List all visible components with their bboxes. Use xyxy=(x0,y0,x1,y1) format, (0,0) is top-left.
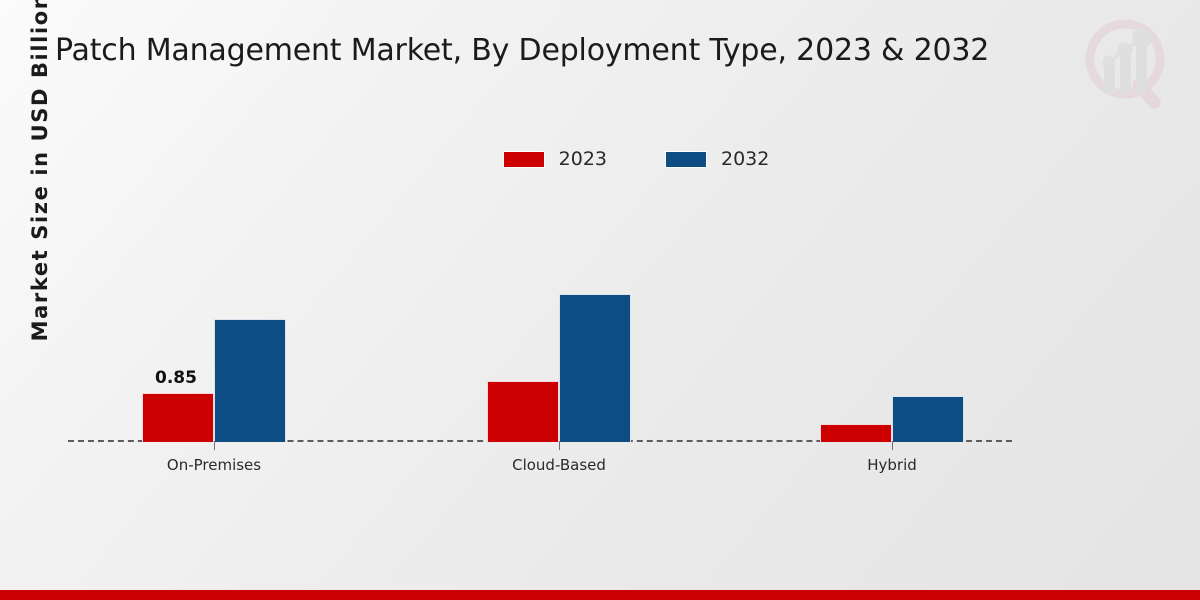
legend-swatch-2032 xyxy=(665,151,707,168)
watermark-logo xyxy=(1082,14,1178,118)
legend-item-2023[interactable]: 2023 xyxy=(503,148,607,170)
x-axis-label-cloud-based: Cloud-Based xyxy=(512,456,606,474)
legend-item-2032[interactable]: 2032 xyxy=(665,148,769,170)
legend-label-2023: 2023 xyxy=(559,148,607,170)
bar-data-label-on-premises-2023: 0.85 xyxy=(155,368,197,388)
chart-canvas: Patch Management Market, By Deployment T… xyxy=(0,0,1200,600)
bar-group-hybrid xyxy=(820,190,964,442)
legend-swatch-2023 xyxy=(503,151,545,168)
y-axis-title: Market Size in USD Billion xyxy=(28,0,52,437)
plot-area: 0.85 On-Premises Cloud-Based Hybrid xyxy=(68,190,1012,452)
x-tick-on-premises xyxy=(214,441,215,450)
x-tick-cloud-based xyxy=(559,441,560,450)
x-axis-label-on-premises: On-Premises xyxy=(167,456,261,474)
x-axis-label-hybrid: Hybrid xyxy=(867,456,917,474)
chart-legend: 2023 2032 xyxy=(0,148,1200,170)
bar-2032-on-premises[interactable] xyxy=(214,319,286,442)
bar-2032-cloud-based[interactable] xyxy=(559,294,631,442)
legend-label-2032: 2032 xyxy=(721,148,769,170)
bar-2023-on-premises[interactable]: 0.85 xyxy=(142,393,214,442)
magnifying-glass-bar-chart-icon xyxy=(1082,14,1178,118)
bar-group-on-premises: 0.85 xyxy=(142,190,286,442)
x-tick-hybrid xyxy=(892,441,893,450)
bar-2032-hybrid[interactable] xyxy=(892,396,964,442)
bar-2023-cloud-based[interactable] xyxy=(487,381,559,442)
bar-group-cloud-based xyxy=(487,190,631,442)
chart-title: Patch Management Market, By Deployment T… xyxy=(55,33,989,68)
bottom-accent-band xyxy=(0,590,1200,600)
bar-2023-hybrid[interactable] xyxy=(820,424,892,442)
